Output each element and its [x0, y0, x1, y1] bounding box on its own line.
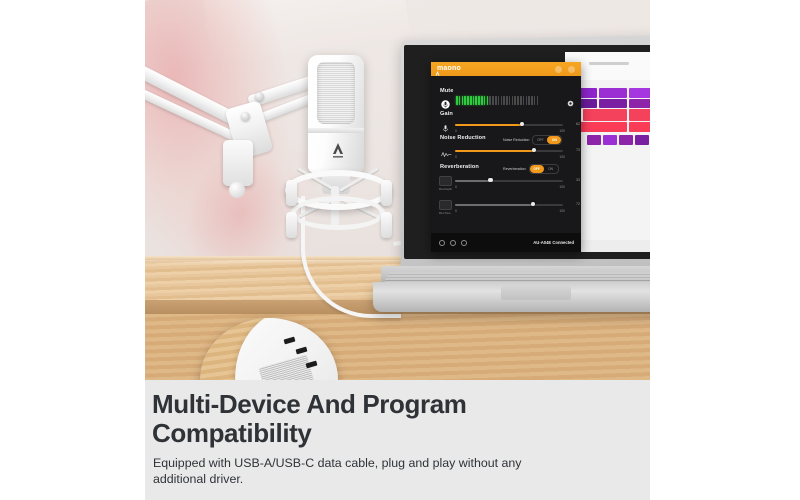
noise-reduction-min-label: 0 — [455, 155, 457, 159]
daw-clip — [583, 109, 627, 121]
microphone-mute-icon[interactable] — [441, 96, 450, 105]
shock-mount-ring-lower — [291, 196, 385, 230]
microphone-ring — [308, 128, 364, 133]
rev-depth-min-label: 0 — [455, 185, 457, 189]
meter-segment — [495, 96, 497, 105]
rev-time-max-label: 100 — [559, 209, 565, 213]
reverberation-toggle[interactable]: OFF ON — [529, 164, 559, 174]
noise-reduction-toggle-label: Noise Reduction — [503, 138, 529, 142]
meter-segment — [517, 96, 519, 105]
rev-time-min-label: 0 — [455, 209, 457, 213]
gain-value: 62 — [576, 122, 580, 126]
gear-icon[interactable] — [567, 94, 574, 101]
rev-depth-icon — [439, 176, 452, 186]
meter-segment — [528, 96, 530, 105]
twitter-icon[interactable] — [461, 240, 467, 246]
meter-segment — [459, 96, 461, 105]
meter-segment — [514, 96, 516, 105]
maono-link-software-window[interactable]: maono Mute — [431, 62, 581, 252]
noise-reduction-slider[interactable]: 0 100 73 — [455, 146, 567, 155]
noise-reduction-value: 73 — [576, 148, 580, 152]
shock-mount-foot — [286, 180, 297, 206]
software-body: Mute Gain — [431, 76, 581, 233]
daw-clip — [629, 109, 650, 121]
product-photo-scene: maono Mute — [145, 0, 650, 380]
gain-section-label: Gain — [440, 111, 453, 117]
software-footer: AU-A04E Connected — [431, 233, 581, 252]
meter-segment — [520, 96, 522, 105]
noise-reduction-slider-knob[interactable] — [532, 148, 536, 152]
desk-clamp-knob — [229, 182, 245, 198]
meter-segment — [537, 96, 539, 105]
meter-segment — [475, 96, 477, 105]
instagram-icon[interactable] — [439, 240, 445, 246]
gain-slider-fill — [455, 124, 522, 126]
maono-logo-icon — [327, 140, 349, 162]
reverberation-off-option[interactable]: OFF — [530, 165, 544, 173]
noise-reduction-off-option[interactable]: OFF — [533, 136, 547, 144]
meter-segment — [464, 96, 466, 105]
input-level-meter — [456, 96, 538, 105]
minimize-button[interactable] — [555, 66, 562, 73]
rev-depth-max-label: 100 — [559, 185, 565, 189]
meter-segment — [503, 96, 505, 105]
meter-segment — [512, 96, 514, 105]
marketing-text-panel: Multi-Device And Program Compatibility E… — [145, 380, 650, 500]
noise-reduction-on-option[interactable]: ON — [547, 136, 561, 144]
daw-title-placeholder — [589, 62, 629, 65]
reverberation-toggle-label: Reverberation — [503, 167, 526, 171]
meter-segment — [534, 96, 536, 105]
gain-slider-knob[interactable] — [520, 122, 524, 126]
gain-max-label: 100 — [559, 129, 565, 133]
mute-section-label: Mute — [440, 88, 453, 94]
daw-clip — [635, 135, 649, 145]
daw-clip — [629, 88, 650, 98]
rev-time-slider-fill — [455, 204, 533, 206]
daw-clip — [599, 99, 627, 108]
rev-depth-slider-knob[interactable] — [488, 178, 492, 182]
rev-depth-label: Rev.Depth — [439, 187, 452, 191]
meter-segment — [473, 96, 475, 105]
boom-arm-hinge-forward — [255, 92, 264, 101]
reverberation-on-option[interactable]: ON — [544, 165, 558, 173]
shock-mount-foot — [381, 180, 392, 206]
software-titlebar: maono — [431, 62, 581, 76]
meter-segment — [481, 96, 483, 105]
headline: Multi-Device And Program Compatibility — [152, 390, 622, 448]
daw-clip — [619, 135, 633, 145]
meter-segment — [470, 96, 472, 105]
device-status-label: AU-A04E Connected — [533, 240, 574, 245]
meter-segment — [456, 96, 458, 105]
reverberation-section-label: Reverberation — [440, 164, 479, 170]
meter-segment — [478, 96, 480, 105]
shock-mount-foot — [381, 212, 392, 238]
meter-segment — [509, 96, 511, 105]
daw-clip — [629, 122, 650, 132]
meter-segment — [526, 96, 528, 105]
meter-segment — [487, 96, 489, 105]
waveform-icon — [441, 146, 450, 155]
noise-reduction-max-label: 100 — [559, 155, 565, 159]
rev-depth-slider-fill — [455, 180, 491, 182]
meter-segment — [498, 96, 500, 105]
close-button[interactable] — [568, 66, 575, 73]
reverberation-toggle-group[interactable]: Reverberation OFF ON — [503, 164, 559, 174]
noise-reduction-slider-fill — [455, 150, 534, 152]
content-frame: maono Mute — [145, 0, 650, 500]
facebook-icon[interactable] — [450, 240, 456, 246]
meter-segment — [531, 96, 533, 105]
meter-segment — [462, 96, 464, 105]
daw-clip — [629, 99, 650, 108]
gain-min-label: 0 — [455, 129, 457, 133]
meter-segment — [523, 96, 525, 105]
rev-time-value: 72 — [576, 202, 580, 206]
desk-clamp — [223, 140, 253, 186]
microphone-grille — [317, 62, 355, 124]
product-marketing-image: maono Mute — [0, 0, 800, 500]
noise-reduction-toggle-group[interactable]: Noise Reduction OFF ON — [503, 135, 562, 145]
meter-segment — [492, 96, 494, 105]
software-brand-label: maono — [437, 65, 461, 72]
meter-segment — [484, 96, 486, 105]
subtext: Equipped with USB-A/USB-C data cable, pl… — [153, 455, 573, 487]
rev-time-slider-knob[interactable] — [531, 202, 535, 206]
laptop-trackpad — [501, 286, 571, 300]
meter-segment — [467, 96, 469, 105]
rev-time-label: Rev.Time — [439, 211, 451, 215]
rev-depth-value: 33 — [576, 178, 580, 182]
daw-clip — [587, 135, 601, 145]
rev-time-slider[interactable]: 0 100 72 — [455, 200, 567, 209]
noise-reduction-toggle[interactable]: OFF ON — [532, 135, 562, 145]
meter-segment — [506, 96, 508, 105]
boom-arm-hinge-top — [241, 112, 250, 121]
daw-clip — [603, 135, 617, 145]
rev-time-icon — [439, 200, 452, 210]
microphone-icon — [441, 120, 450, 129]
noise-reduction-section-label: Noise Reduction — [440, 135, 486, 141]
gain-slider[interactable]: 0 100 62 — [455, 120, 567, 129]
meter-segment — [489, 96, 491, 105]
daw-clip — [599, 88, 627, 98]
shock-mount-foot — [286, 212, 297, 238]
rev-depth-slider[interactable]: 0 100 33 — [455, 176, 567, 185]
meter-segment — [501, 96, 503, 105]
